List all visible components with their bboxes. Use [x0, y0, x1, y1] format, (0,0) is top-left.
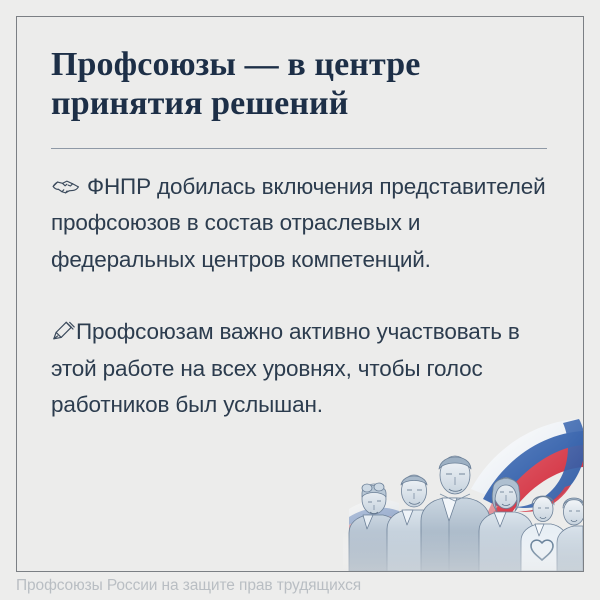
paragraph-1-text: ФНПР добилась включения представителей п…: [51, 174, 545, 272]
title-divider: [51, 148, 547, 149]
handshake-icon: [51, 172, 81, 194]
poster-card: Профсоюзы — в центре принятия решений: [16, 16, 584, 572]
body-block: ФНПР добилась включения представителей п…: [51, 169, 551, 424]
footer-caption: Профсоюзы России на защите прав трудящих…: [16, 578, 361, 594]
paragraph-2-text: Профсоюзам важно активно участвовать в э…: [51, 319, 520, 417]
paragraph-1: ФНПР добилась включения представителей п…: [51, 169, 551, 278]
page-title: Профсоюзы — в центре принятия решений: [51, 45, 521, 124]
paragraph-2: Профсоюзам важно активно участвовать в э…: [51, 314, 551, 423]
poster-root: Профсоюзы — в центре принятия решений: [0, 0, 600, 600]
title-block: Профсоюзы — в центре принятия решений: [51, 45, 521, 124]
pen-icon: [51, 317, 75, 339]
